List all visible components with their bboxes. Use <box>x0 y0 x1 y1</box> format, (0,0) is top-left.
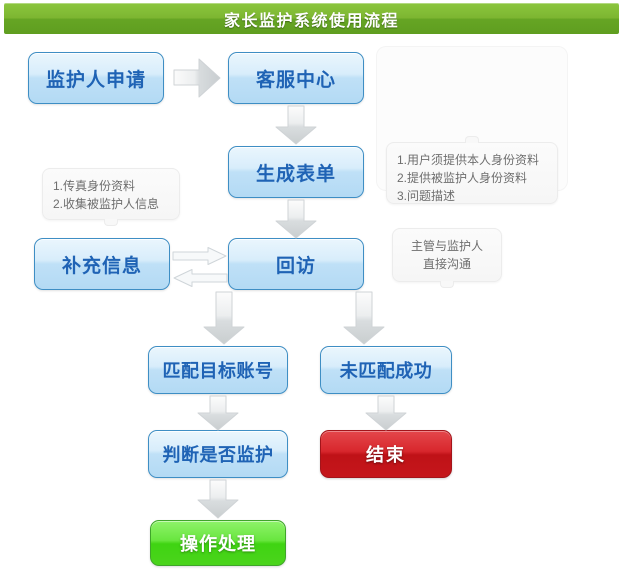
note-line: 直接沟通 <box>423 255 471 273</box>
page-title: 家长监护系统使用流程 <box>224 7 399 31</box>
note-line: 主管与监护人 <box>411 237 483 255</box>
arrow-down-match-to-judge <box>196 395 240 431</box>
node-callback[interactable]: 回访 <box>228 238 364 290</box>
arrow-thin-left-callback-to-supplement <box>172 268 228 288</box>
node-label: 匹配目标账号 <box>163 357 274 383</box>
arrow-down-service-to-form <box>274 105 318 145</box>
node-supplement-info[interactable]: 补充信息 <box>34 238 170 290</box>
flowchart-page: 家长监护系统使用流程 监护人申请 客服中心 生成表单 回访 补充信息 匹配目标账… <box>0 0 623 583</box>
arrow-down-unmatched-to-finish <box>364 395 408 431</box>
node-generate-form[interactable]: 生成表单 <box>228 146 364 198</box>
arrow-down-callback-to-unmatched <box>342 291 386 345</box>
node-label: 监护人申请 <box>46 65 146 92</box>
note-line: 3.问题描述 <box>397 187 547 205</box>
node-label: 结束 <box>366 441 406 467</box>
arrow-right-apply-to-service <box>173 57 221 99</box>
note-right-requirements: 1.用户须提供本人身份资料 2.提供被监护人身份资料 3.问题描述 <box>386 142 558 204</box>
arrow-down-form-to-callback <box>274 199 318 239</box>
node-match-account[interactable]: 匹配目标账号 <box>148 346 288 394</box>
node-judge-guardian[interactable]: 判断是否监护 <box>148 430 288 478</box>
node-label: 操作处理 <box>180 530 256 556</box>
node-label: 客服中心 <box>256 65 336 92</box>
note-line: 1.用户须提供本人身份资料 <box>397 151 547 169</box>
note-line: 2.收集被监护人信息 <box>53 195 169 213</box>
node-finish[interactable]: 结束 <box>320 430 452 478</box>
node-label: 补充信息 <box>62 251 142 278</box>
node-service-center[interactable]: 客服中心 <box>228 52 364 104</box>
note-line: 2.提供被监护人身份资料 <box>397 169 547 187</box>
node-label: 未匹配成功 <box>340 357 433 383</box>
note-callback-communication: 主管与监护人 直接沟通 <box>392 228 502 282</box>
node-operate[interactable]: 操作处理 <box>150 520 286 566</box>
arrow-down-callback-to-match <box>202 291 246 345</box>
node-label: 判断是否监护 <box>163 441 274 467</box>
note-left-supplement: 1.传真身份资料 2.收集被监护人信息 <box>42 168 180 220</box>
arrow-thin-right-supplement-to-callback <box>172 246 228 266</box>
page-header: 家长监护系统使用流程 <box>4 3 619 34</box>
node-label: 回访 <box>276 251 316 278</box>
node-label: 生成表单 <box>256 159 336 186</box>
node-not-matched[interactable]: 未匹配成功 <box>320 346 452 394</box>
node-guardian-apply[interactable]: 监护人申请 <box>28 52 164 104</box>
note-line: 1.传真身份资料 <box>53 177 169 195</box>
arrow-down-judge-to-operate <box>196 479 240 519</box>
